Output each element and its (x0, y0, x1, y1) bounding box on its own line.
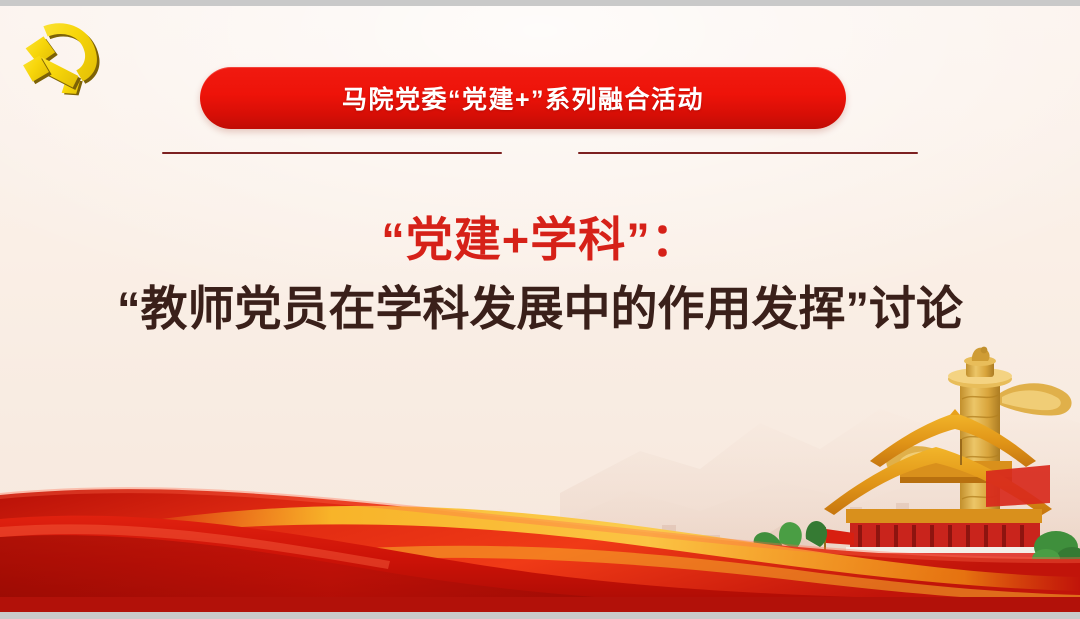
event-banner-label: 马院党委“党建+”系列融合活动 (342, 80, 704, 116)
tiananmen-illustration (750, 343, 1080, 613)
event-banner: 马院党委“党建+”系列融合活动 (200, 67, 846, 129)
poster-root: 马院党委“党建+”系列融合活动 “党建+学科”： “教师党员在学科发展中的作用发… (0, 0, 1080, 619)
title-line-1: “党建+学科”： (0, 211, 1080, 268)
huabiao-column (886, 347, 1071, 527)
frame-strip-bottom (0, 612, 1080, 619)
red-silk-ribbon (0, 433, 1080, 613)
headline-block: “党建+学科”： “教师党员在学科发展中的作用发挥”讨论 (0, 211, 1080, 338)
red-flags (824, 439, 962, 561)
title-line-2: “教师党员在学科发展中的作用发挥”讨论 (0, 280, 1080, 337)
divider-rule-left (162, 152, 502, 154)
divider-rules (0, 152, 1080, 154)
shrubbery (1032, 531, 1080, 571)
cpc-emblem-icon (8, 10, 116, 102)
peony-cluster (751, 521, 978, 597)
poster-canvas: 马院党委“党建+”系列融合活动 “党建+学科”： “教师党员在学科发展中的作用发… (0, 6, 1080, 613)
divider-rule-right (578, 152, 918, 154)
